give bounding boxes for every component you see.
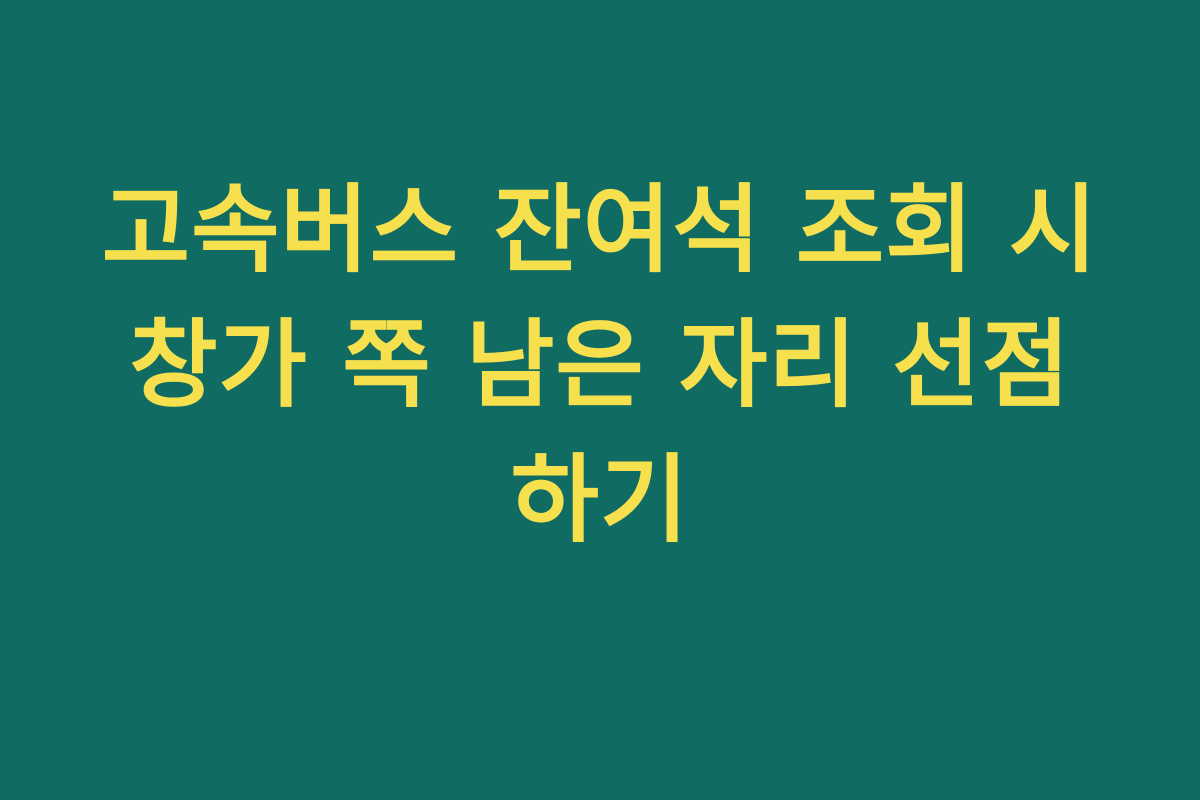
title-line-1: 고속버스 잔여석 조회 시 <box>80 163 1120 298</box>
title-line-2: 창가 쪽 남은 자리 선점 <box>80 298 1120 433</box>
title-card: 고속버스 잔여석 조회 시 창가 쪽 남은 자리 선점 하기 <box>0 0 1200 800</box>
title-line-3: 하기 <box>80 433 1120 568</box>
page-title: 고속버스 잔여석 조회 시 창가 쪽 남은 자리 선점 하기 <box>70 163 1130 568</box>
